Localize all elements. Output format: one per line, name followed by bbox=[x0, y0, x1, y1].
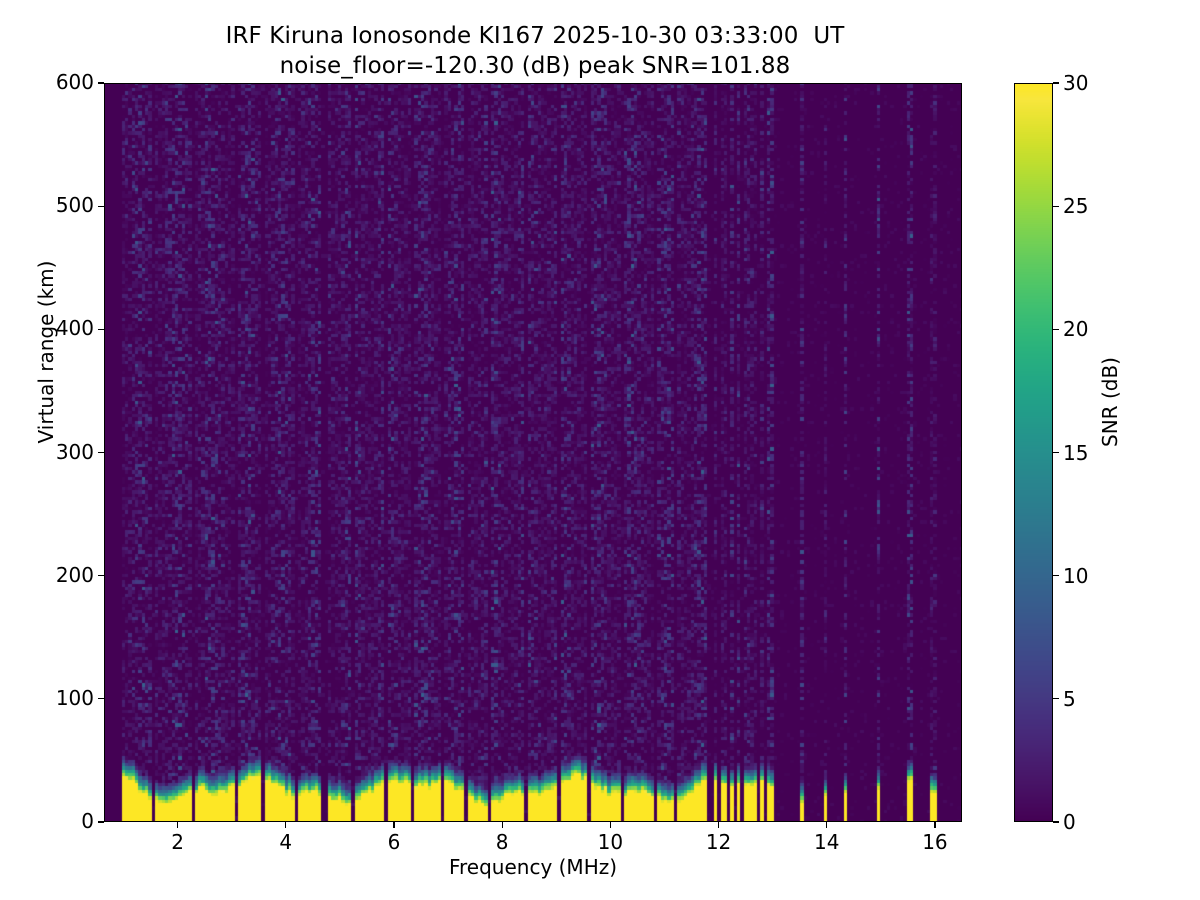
title-line-1: IRF Kiruna Ionosonde KI167 2025-10-30 03… bbox=[0, 22, 1070, 52]
ionogram-figure: IRF Kiruna Ionosonde KI167 2025-10-30 03… bbox=[0, 0, 1200, 900]
x-tick-label: 14 bbox=[814, 830, 839, 854]
y-axis-label: Virtual range (km) bbox=[34, 242, 58, 462]
x-axis-label: Frequency (MHz) bbox=[104, 855, 962, 879]
x-tick-label: 16 bbox=[922, 830, 947, 854]
colorbar-tick-label: 30 bbox=[1063, 71, 1088, 95]
x-tick-label: 12 bbox=[706, 830, 731, 854]
x-tick-label: 2 bbox=[171, 830, 184, 854]
colorbar-gradient bbox=[1015, 84, 1052, 821]
x-tick-mark bbox=[610, 822, 611, 828]
colorbar-tick-mark bbox=[1053, 206, 1059, 207]
x-tick-mark bbox=[285, 822, 286, 828]
x-tick-label: 10 bbox=[598, 830, 623, 854]
colorbar-tick-mark bbox=[1053, 821, 1059, 822]
x-tick-mark bbox=[393, 822, 394, 828]
y-tick-label: 400 bbox=[40, 316, 94, 340]
colorbar bbox=[1014, 83, 1053, 822]
x-tick-mark bbox=[934, 822, 935, 828]
y-tick-mark bbox=[98, 821, 104, 822]
colorbar-tick-mark bbox=[1053, 575, 1059, 576]
colorbar-tick-mark bbox=[1053, 698, 1059, 699]
colorbar-tick-label: 20 bbox=[1063, 317, 1088, 341]
x-tick-label: 6 bbox=[388, 830, 401, 854]
y-tick-mark bbox=[98, 82, 104, 83]
colorbar-tick-mark bbox=[1053, 452, 1059, 453]
y-tick-label: 100 bbox=[40, 686, 94, 710]
y-tick-mark bbox=[98, 698, 104, 699]
x-tick-mark bbox=[502, 822, 503, 828]
y-tick-mark bbox=[98, 329, 104, 330]
y-tick-mark bbox=[98, 206, 104, 207]
y-tick-label: 300 bbox=[40, 440, 94, 464]
colorbar-label: SNR (dB) bbox=[1098, 312, 1122, 492]
y-tick-mark bbox=[98, 452, 104, 453]
y-tick-label: 200 bbox=[40, 563, 94, 587]
title-line-2: noise_floor=-120.30 (dB) peak SNR=101.88 bbox=[0, 52, 1070, 82]
colorbar-tick-label: 25 bbox=[1063, 194, 1088, 218]
colorbar-tick-label: 0 bbox=[1063, 810, 1076, 834]
y-tick-label: 600 bbox=[40, 70, 94, 94]
colorbar-tick-label: 5 bbox=[1063, 687, 1076, 711]
y-tick-label: 0 bbox=[40, 809, 94, 833]
x-tick-mark bbox=[718, 822, 719, 828]
colorbar-tick-label: 10 bbox=[1063, 564, 1088, 588]
colorbar-tick-mark bbox=[1053, 82, 1059, 83]
ionogram-heatmap bbox=[105, 84, 962, 822]
colorbar-tick-label: 15 bbox=[1063, 441, 1088, 465]
ionogram-axes bbox=[104, 83, 962, 822]
colorbar-tick-mark bbox=[1053, 329, 1059, 330]
x-tick-label: 8 bbox=[496, 830, 509, 854]
x-tick-mark bbox=[826, 822, 827, 828]
x-tick-mark bbox=[177, 822, 178, 828]
y-tick-label: 500 bbox=[40, 193, 94, 217]
x-tick-label: 4 bbox=[279, 830, 292, 854]
y-tick-mark bbox=[98, 575, 104, 576]
plot-title: IRF Kiruna Ionosonde KI167 2025-10-30 03… bbox=[0, 22, 1070, 82]
